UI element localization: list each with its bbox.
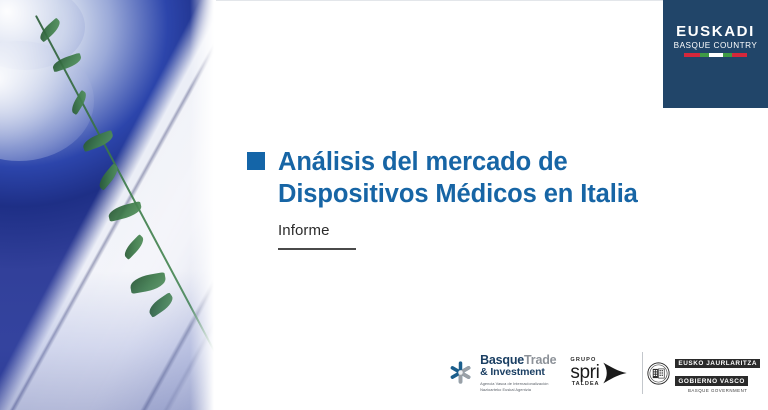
grupo-spri-taldea-logo: GRUPO spri TALDEA [570,358,628,387]
spri-wordmark: spri [570,364,599,382]
euskadi-flag-bar [684,53,747,57]
page-title: Análisis del mercado de Dispositivos Méd… [278,146,717,210]
asterisk-icon [448,360,473,385]
hero-image-bottom-tint [0,271,216,410]
gobierno-vasco-line-eu: EUSKO JAURLARITZA [675,359,760,368]
gobierno-vasco-line-en: BASQUE GOVERNMENT [675,389,760,394]
report-cover-slide: EUSKADI BASQUE COUNTRY Análisis del merc… [0,0,768,410]
euskadi-logo-block: EUSKADI BASQUE COUNTRY [663,0,768,108]
hero-image-lab-plant [0,0,216,410]
page-subtitle: Informe [278,222,717,239]
title-bullet-square [247,152,265,170]
arrow-triangle-icon [602,362,628,384]
gobierno-vasco-line-es: GOBIERNO VASCO [675,376,748,385]
euskadi-wordmark: EUSKADI [676,24,755,39]
basquetrade-tagline-es: Agencia Vasca de Internacionalización [480,381,556,387]
spri-taldea-label: TALDEA [570,382,599,388]
eusko-jaurlaritza-gobierno-vasco-logo: EUSKO JAURLARITZA GOBIERNO VASCO BASQUE … [642,352,760,394]
basquetrade-name-light: Trade [524,353,556,367]
subtitle-underline [278,248,356,249]
basquetrade-name-bold: Basque [480,353,524,367]
basquetrade-subline: & Investment [480,367,556,378]
basquetrade-tagline-eu: Nazioarteko Euskal Agentzia [480,387,556,393]
hero-image-right-fade [190,0,216,410]
title-block: Análisis del mercado de Dispositivos Méd… [247,146,717,250]
basquetrade-investment-logo: BasqueTrade & Investment Agencia Vasca d… [448,354,556,393]
basque-country-wordmark: BASQUE COUNTRY [674,42,758,50]
basque-government-seal-icon [647,362,670,385]
footer-logo-bar: BasqueTrade & Investment Agencia Vasca d… [440,350,760,396]
